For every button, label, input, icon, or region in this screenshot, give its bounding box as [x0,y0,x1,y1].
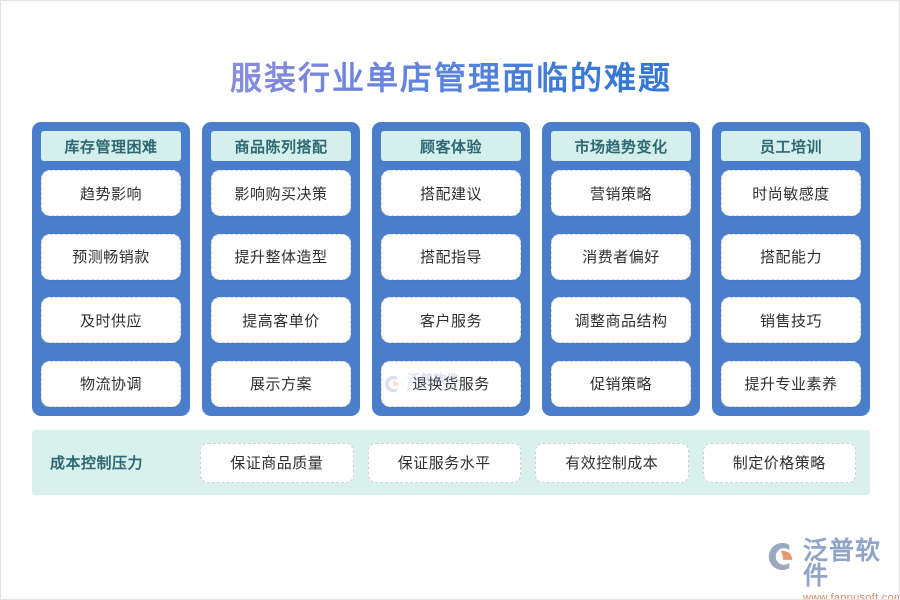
column-header-inventory: 库存管理困难 [41,131,181,161]
item-card[interactable]: 及时供应 [41,297,181,343]
footer-logo-url: www.fanpusoft.com [803,592,900,600]
fanpu-logo-icon [767,541,798,572]
page-title: 服装行业单店管理面临的难题 [230,53,672,99]
category-column-customer-experience: 顾客体验 搭配建议 搭配指导 客户服务 退换货服务 [372,122,530,416]
category-column-market-trends: 市场趋势变化 营销策略 消费者偏好 调整商品结构 促销策略 [542,122,700,416]
column-items-market-trends: 营销策略 消费者偏好 调整商品结构 促销策略 [551,170,691,407]
item-card[interactable]: 展示方案 [211,361,351,407]
cost-control-card[interactable]: 保证商品质量 [200,443,354,483]
item-card[interactable]: 搭配能力 [721,234,861,280]
item-card[interactable]: 消费者偏好 [551,234,691,280]
column-header-customer-experience: 顾客体验 [381,131,521,161]
infographic-page: 服装行业单店管理面临的难题 库存管理困难 趋势影响 预测畅销款 及时供应 物流协… [0,0,900,600]
page-title-container: 服装行业单店管理面临的难题 [1,53,900,99]
cost-control-card[interactable]: 制定价格策略 [703,443,857,483]
item-card[interactable]: 退换货服务 [381,361,521,407]
column-header-merchandising: 商品陈列搭配 [211,131,351,161]
item-card[interactable]: 营销策略 [551,170,691,216]
footer-logo-name: 泛普软件 [803,539,900,589]
item-card[interactable]: 提高客单价 [211,297,351,343]
column-items-merchandising: 影响购买决策 提升整体造型 提高客单价 展示方案 [211,170,351,407]
footer-logo: 泛普软件 www.fanpusoft.com [767,539,900,600]
item-card[interactable]: 影响购买决策 [211,170,351,216]
column-items-staff-training: 时尚敏感度 搭配能力 销售技巧 提升专业素养 [721,170,861,407]
cost-control-card[interactable]: 保证服务水平 [368,443,522,483]
column-header-market-trends: 市场趋势变化 [551,131,691,161]
cost-control-label: 成本控制压力 [50,452,200,473]
item-card[interactable]: 时尚敏感度 [721,170,861,216]
item-card[interactable]: 搭配指导 [381,234,521,280]
item-card[interactable]: 趋势影响 [41,170,181,216]
item-card[interactable]: 客户服务 [381,297,521,343]
column-items-customer-experience: 搭配建议 搭配指导 客户服务 退换货服务 [381,170,521,407]
item-card[interactable]: 调整商品结构 [551,297,691,343]
category-column-staff-training: 员工培训 时尚敏感度 搭配能力 销售技巧 提升专业素养 [712,122,870,416]
category-column-merchandising: 商品陈列搭配 影响购买决策 提升整体造型 提高客单价 展示方案 [202,122,360,416]
item-card[interactable]: 促销策略 [551,361,691,407]
item-card[interactable]: 提升整体造型 [211,234,351,280]
cost-control-bar: 成本控制压力 保证商品质量 保证服务水平 有效控制成本 制定价格策略 [32,430,870,495]
column-items-inventory: 趋势影响 预测畅销款 及时供应 物流协调 [41,170,181,407]
footer-logo-text: 泛普软件 www.fanpusoft.com [803,539,900,600]
item-card[interactable]: 搭配建议 [381,170,521,216]
category-columns: 库存管理困难 趋势影响 预测畅销款 及时供应 物流协调 商品陈列搭配 影响购买决… [32,122,870,416]
item-card[interactable]: 物流协调 [41,361,181,407]
item-card[interactable]: 销售技巧 [721,297,861,343]
item-card[interactable]: 提升专业素养 [721,361,861,407]
cost-control-card[interactable]: 有效控制成本 [535,443,689,483]
category-column-inventory: 库存管理困难 趋势影响 预测畅销款 及时供应 物流协调 [32,122,190,416]
column-header-staff-training: 员工培训 [721,131,861,161]
item-card[interactable]: 预测畅销款 [41,234,181,280]
cost-control-items: 保证商品质量 保证服务水平 有效控制成本 制定价格策略 [200,443,856,483]
